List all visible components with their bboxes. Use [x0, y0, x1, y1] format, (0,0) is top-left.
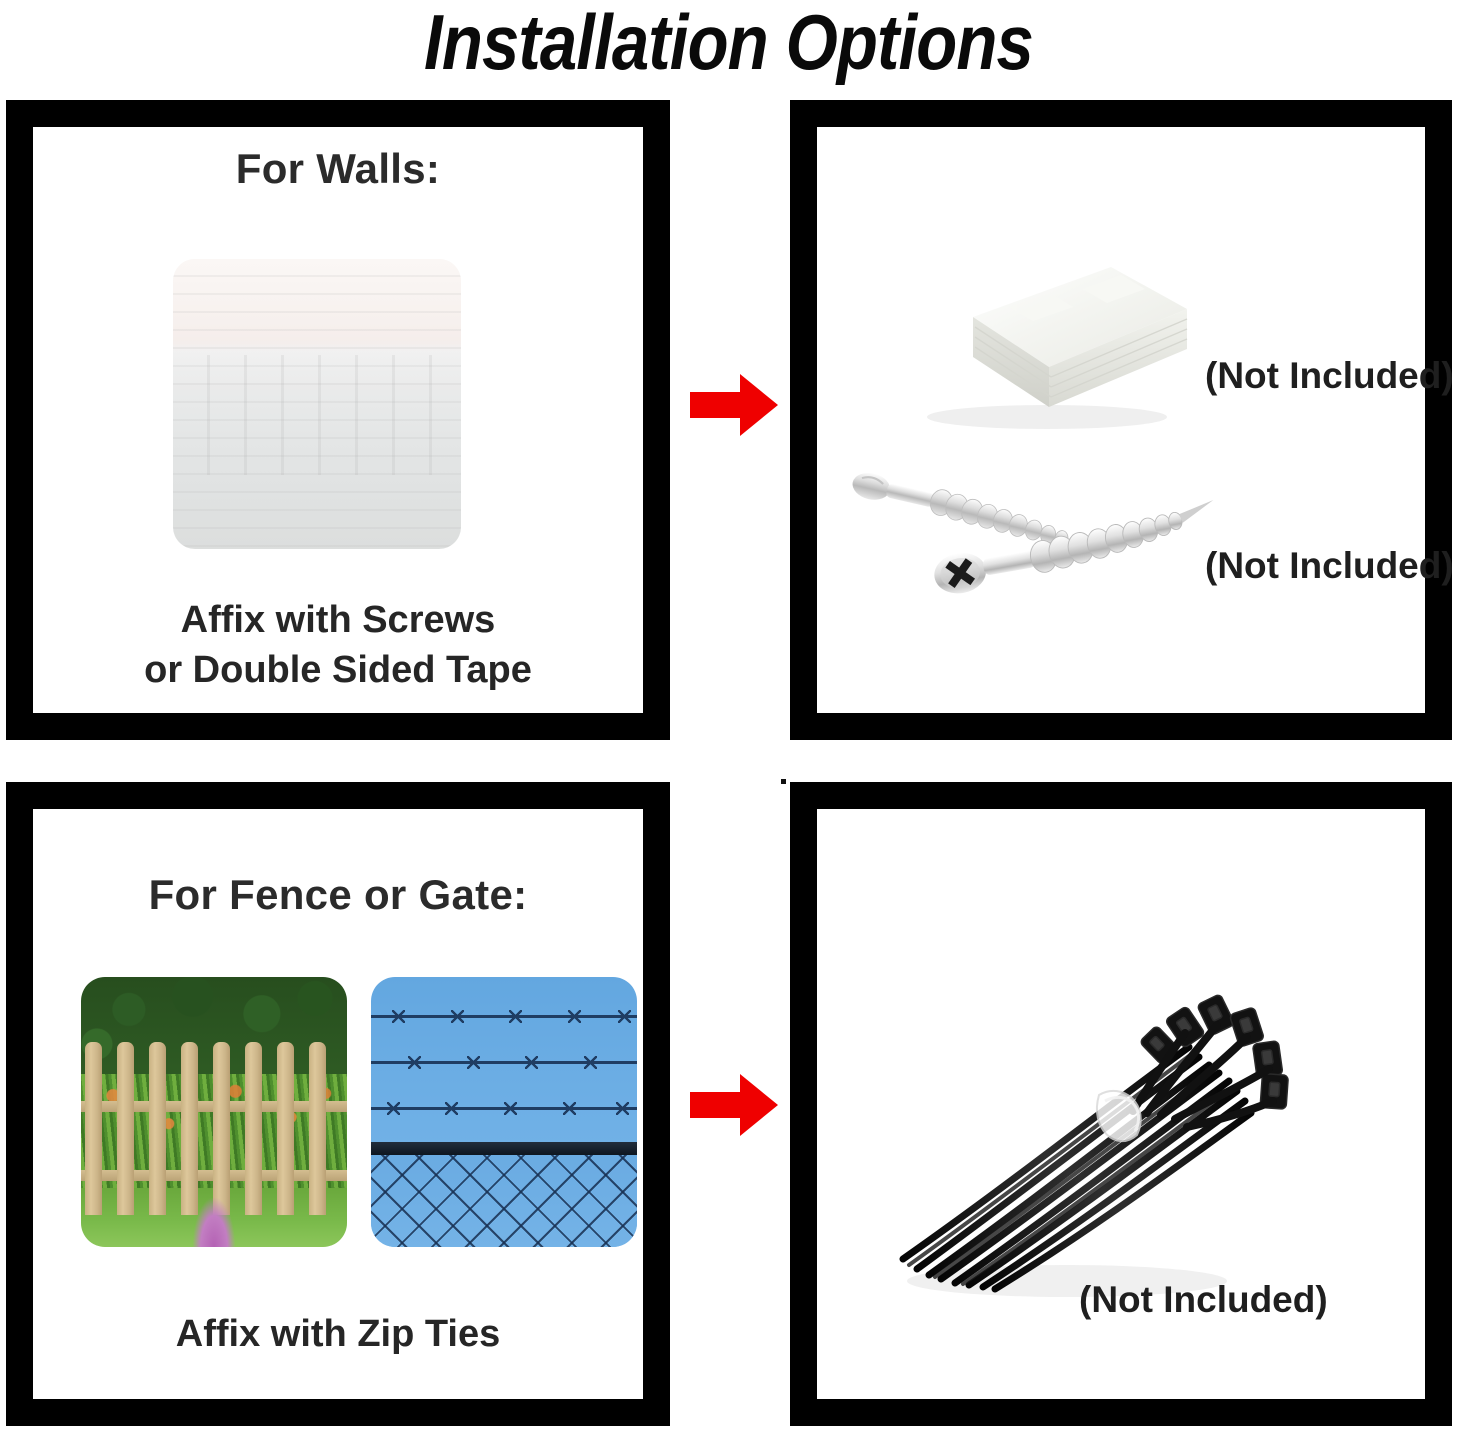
arrow-right-icon-top [688, 372, 780, 438]
purple-path-patch [193, 1198, 236, 1247]
panel-fence-caption: Affix with Zip Ties [33, 1309, 643, 1359]
tape-not-included-label: (Not Included) [1205, 355, 1454, 397]
wall-brick-joints [173, 355, 461, 475]
wooden-picket-fence-image [81, 977, 347, 1247]
chain-link-mesh [371, 1155, 637, 1247]
page-title: Installation Options [102, 0, 1355, 88]
panel-wall-heading: For Walls: [33, 145, 643, 193]
panel-wall-caption-line2: or Double Sided Tape [33, 645, 643, 695]
wood-screws-image [845, 457, 1215, 647]
zip-tie-bundle-image [837, 929, 1307, 1329]
chain-link-fence-image [371, 977, 637, 1247]
screws-not-included-label: (Not Included) [1205, 545, 1454, 587]
ziptie-not-included-label: (Not Included) [1079, 1279, 1328, 1321]
double-sided-tape-image [897, 255, 1197, 435]
barbed-wire-strand-3 [371, 1107, 637, 1110]
panel-for-fence-or-gate: For Fence or Gate: [6, 782, 670, 1426]
panel-wall-caption: Affix with Screws or Double Sided Tape [33, 595, 643, 695]
fence-top-rail [371, 1142, 637, 1155]
arrow-right-icon-bottom [688, 1072, 780, 1138]
barbed-wire-strand-2 [371, 1061, 637, 1064]
panel-fence-heading: For Fence or Gate: [33, 871, 643, 919]
white-brick-wall-image [173, 259, 461, 549]
stray-dot-artifact [781, 779, 786, 784]
panel-wall-hardware: (Not Included) [790, 100, 1452, 740]
panel-wall-caption-line1: Affix with Screws [33, 595, 643, 645]
barbed-wire-strand-1 [371, 1015, 637, 1018]
panel-zip-ties: (Not Included) [790, 782, 1452, 1426]
fence-pickets [81, 1042, 347, 1215]
panel-for-walls: For Walls: Affix with Screws or Double S… [6, 100, 670, 740]
